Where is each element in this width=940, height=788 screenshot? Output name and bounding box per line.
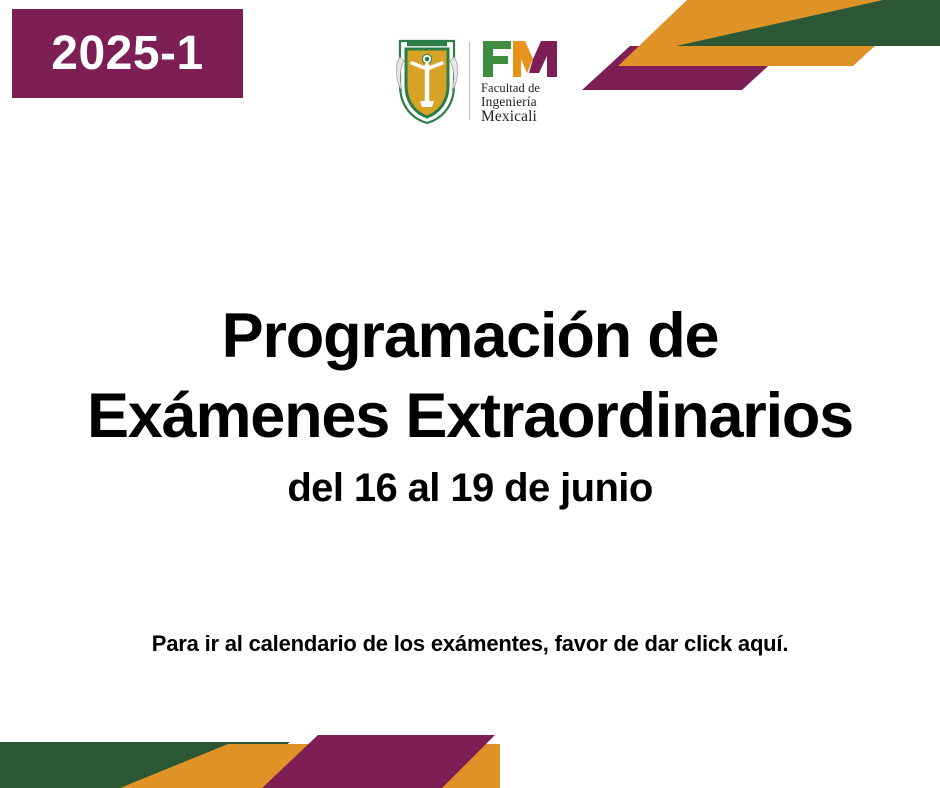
calendar-link-text[interactable]: Para ir al calendario de los exámentes, … bbox=[0, 631, 940, 657]
poster-canvas: 2025-1 bbox=[0, 0, 940, 788]
date-range-subtitle: del 16 al 19 de junio bbox=[0, 466, 940, 511]
page-title-line-1: Programación de bbox=[0, 297, 940, 376]
page-title: Programación de Exámenes Extraordinarios bbox=[0, 297, 940, 456]
page-title-line-2: Exámenes Extraordinarios bbox=[0, 377, 940, 456]
poster-content: Programación de Exámenes Extraordinarios… bbox=[0, 0, 940, 788]
